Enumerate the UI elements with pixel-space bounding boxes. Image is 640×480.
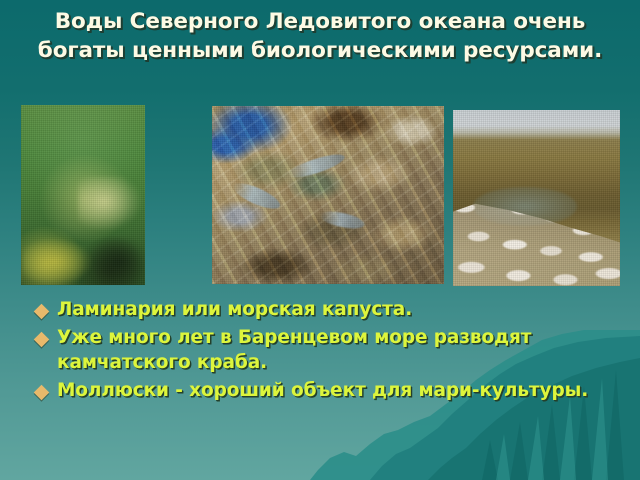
list-item: Ламинария или морская капуста. bbox=[36, 298, 596, 322]
diamond-bullet-icon bbox=[34, 304, 50, 320]
bullet-text-1: Ламинария или морская капуста. bbox=[57, 298, 412, 322]
shell-shore-photo-grain bbox=[453, 110, 620, 286]
slide-title-line-2: богаты ценными биологическими ресурсами. bbox=[0, 37, 640, 66]
king-crab-pile-photo-grain bbox=[212, 106, 444, 284]
diamond-bullet-icon bbox=[34, 385, 50, 401]
king-crab-pile-photo bbox=[212, 106, 444, 284]
list-item: Уже много лет в Баренцевом море разводят… bbox=[36, 326, 596, 375]
underwater-kelp-photo bbox=[21, 105, 145, 285]
slide-canvas: Воды Северного Ледовитого океана очень б… bbox=[0, 0, 640, 480]
underwater-kelp-photo-grain bbox=[21, 105, 145, 285]
slide-title: Воды Северного Ледовитого океана очень б… bbox=[0, 8, 640, 65]
bullet-text-2: Уже много лет в Баренцевом море разводят… bbox=[57, 326, 596, 375]
slide-title-line-1: Воды Северного Ледовитого океана очень bbox=[0, 8, 640, 37]
shell-shore-photo bbox=[453, 110, 620, 286]
list-item: Моллюски - хороший объект для мари-культ… bbox=[36, 379, 596, 403]
diamond-bullet-icon bbox=[34, 332, 50, 348]
bullet-list: Ламинария или морская капуста. Уже много… bbox=[36, 298, 596, 408]
bullet-text-3: Моллюски - хороший объект для мари-культ… bbox=[57, 379, 588, 403]
